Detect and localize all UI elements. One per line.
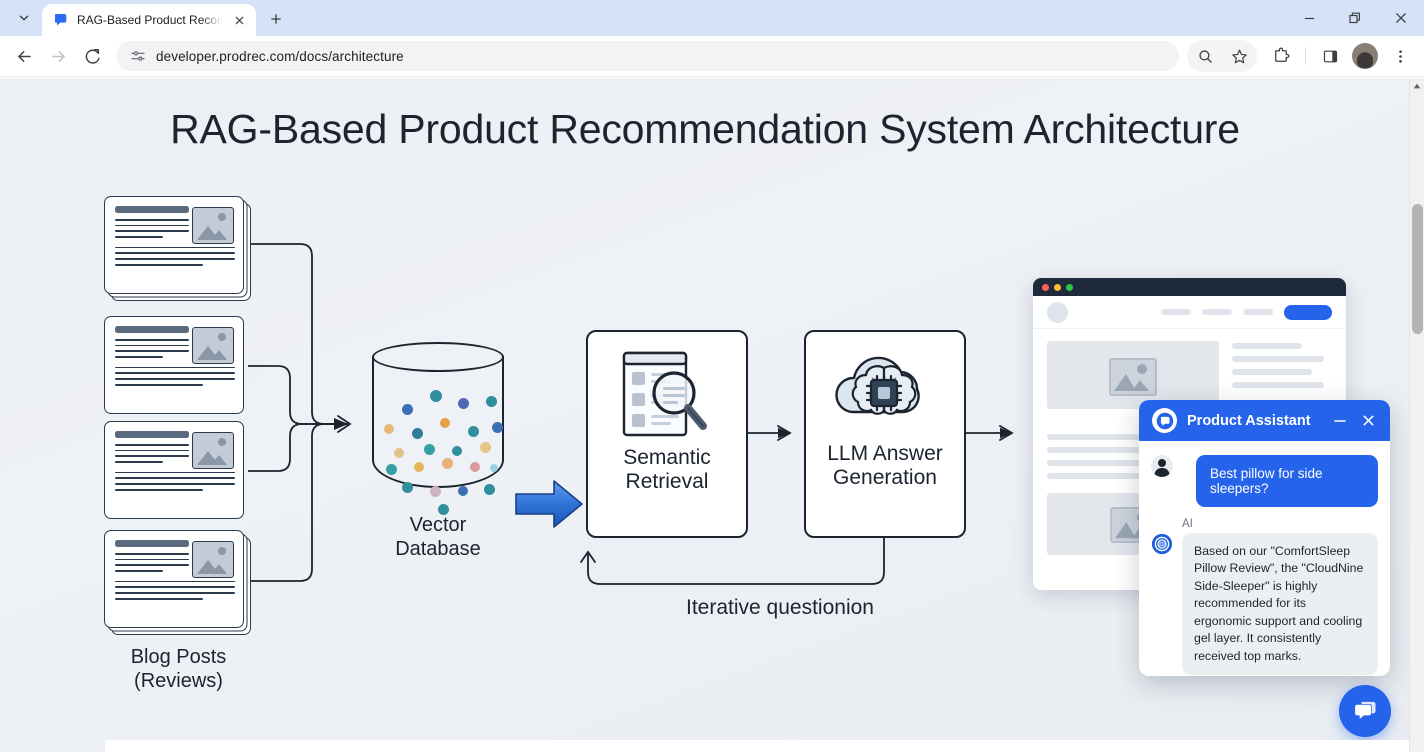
close-icon [1362, 414, 1375, 427]
cylinder-top-ellipse [372, 342, 504, 372]
tab-strip: RAG-Based Product Recommen [0, 0, 1424, 36]
chat-message-user: Best pillow for side sleepers? [1151, 455, 1378, 507]
vector-dot [492, 422, 503, 433]
vector-dot [402, 404, 413, 415]
window-restore-button[interactable] [1332, 0, 1378, 36]
product-assistant-logo [1152, 408, 1177, 433]
vector-dot [384, 424, 394, 434]
traffic-light-green [1066, 284, 1073, 291]
site-settings-icon [130, 48, 146, 64]
vector-dot [468, 426, 479, 437]
step-label: Semantic Retrieval [623, 446, 711, 493]
back-button[interactable] [8, 40, 40, 72]
architecture-diagram: Blog Posts (Reviews) [0, 78, 1410, 752]
chat-close-button[interactable] [1359, 412, 1377, 430]
vector-dot [394, 448, 404, 458]
omnibox-actions-pill [1187, 40, 1257, 72]
ai-avatar-icon [1151, 533, 1173, 555]
doc-image-placeholder [192, 432, 234, 469]
browser-tab[interactable]: RAG-Based Product Recommen [42, 4, 256, 36]
source-document-3[interactable] [104, 421, 249, 523]
chat-message-ai: Based on our "ComfortSleep Pillow Review… [1151, 533, 1378, 675]
doc-title-bar [115, 540, 189, 547]
mockup-navbar [1033, 296, 1346, 329]
scrollbar-thumb[interactable] [1412, 204, 1423, 334]
mockup-titlebar [1033, 278, 1346, 296]
source-document-2[interactable] [104, 316, 249, 418]
vector-dot [458, 398, 469, 409]
chat-bubble-logo-icon [1156, 412, 1174, 430]
side-panel-icon [1322, 48, 1339, 65]
chat-bubble-favicon [53, 12, 69, 28]
step-label: LLM Answer Generation [827, 442, 943, 489]
cloud-brain-chip-icon [827, 346, 943, 438]
tab-title: RAG-Based Product Recommen [77, 13, 222, 27]
chat-launcher-button[interactable] [1339, 685, 1391, 737]
browser-toolbar: developer.prodrec.com/docs/architecture [0, 36, 1424, 77]
forward-button[interactable] [42, 40, 74, 72]
minimize-icon [1304, 13, 1315, 24]
vector-dot [402, 482, 413, 493]
restore-icon [1349, 12, 1361, 24]
database-caption: Vector Database [358, 514, 518, 561]
new-tab-button[interactable] [262, 5, 290, 33]
search-icon [1197, 48, 1214, 65]
doc-title-bar [115, 431, 189, 438]
doc-title-bar [115, 206, 189, 213]
doc-image-placeholder [192, 541, 234, 578]
vector-dot [470, 462, 480, 472]
vector-dot [486, 396, 497, 407]
vector-dot [452, 446, 462, 456]
vector-dot [430, 486, 441, 497]
plus-icon [269, 12, 283, 26]
source-document-stack-4[interactable] [104, 530, 260, 644]
page-bottom-panel [105, 740, 1410, 752]
close-icon [234, 15, 245, 26]
source-document-stack-1[interactable] [104, 196, 260, 310]
traffic-light-red [1042, 284, 1049, 291]
star-icon [1231, 48, 1248, 65]
vector-dot [442, 458, 453, 469]
reload-button[interactable] [76, 40, 108, 72]
window-close-button[interactable] [1378, 0, 1424, 36]
page-viewport: RAG-Based Product Recommendation System … [0, 78, 1424, 752]
reload-icon [83, 47, 101, 65]
step-semantic-retrieval[interactable]: Semantic Retrieval [586, 330, 748, 538]
puzzle-icon [1272, 47, 1290, 65]
ai-badge-icon [1151, 533, 1173, 555]
forward-arrow-icon [49, 47, 68, 66]
doc-sheet-front [104, 421, 244, 519]
doc-image-placeholder [192, 207, 234, 244]
extensions-button[interactable] [1265, 40, 1297, 72]
mockup-nav-links [1161, 305, 1332, 320]
toolbar-actions [1187, 40, 1416, 72]
ai-message-bubble: Based on our "ComfortSleep Pillow Review… [1182, 533, 1378, 675]
bookmark-button[interactable] [1223, 40, 1255, 72]
window-minimize-button[interactable] [1286, 0, 1332, 36]
side-panel-button[interactable] [1314, 40, 1346, 72]
minimize-icon [1333, 414, 1347, 428]
chat-bubbles-icon [1352, 698, 1379, 725]
doc-sheet-front [104, 316, 244, 414]
ai-sender-label: AI [1182, 518, 1378, 530]
vector-dot [440, 418, 450, 428]
chat-message-list: Best pillow for side sleepers? AI [1139, 441, 1390, 676]
product-assistant-chat-widget: Product Assistant Best pillow for side s… [1139, 400, 1390, 676]
vector-dot [424, 444, 435, 455]
image-placeholder-icon [1109, 358, 1157, 396]
profile-avatar[interactable] [1352, 43, 1378, 69]
doc-title-bar [115, 326, 189, 333]
back-arrow-icon [15, 47, 34, 66]
close-icon [1395, 12, 1407, 24]
vector-dot [386, 464, 397, 475]
vector-dot [484, 484, 495, 495]
traffic-light-yellow [1054, 284, 1061, 291]
mockup-nav-link[interactable] [1161, 309, 1191, 315]
chevron-down-icon [17, 11, 31, 25]
mockup-nav-link[interactable] [1243, 309, 1273, 315]
more-vertical-icon [1392, 48, 1409, 65]
document-magnifier-icon [619, 350, 715, 442]
toolbar-divider [1305, 47, 1306, 65]
mockup-hero-image [1047, 341, 1219, 409]
tab-close-button[interactable] [230, 11, 248, 29]
address-bar-url: developer.prodrec.com/docs/architecture [156, 49, 404, 64]
vector-dot [490, 464, 498, 472]
chat-header: Product Assistant [1139, 400, 1390, 441]
scroll-up-button[interactable] [1410, 78, 1424, 94]
mockup-cta-button[interactable] [1284, 305, 1332, 320]
window-controls [1286, 0, 1424, 36]
mockup-nav-link[interactable] [1202, 309, 1232, 315]
zoom-search-button[interactable] [1189, 40, 1221, 72]
browser-window: RAG-Based Product Recommen [0, 0, 1424, 752]
address-bar[interactable]: developer.prodrec.com/docs/architecture [116, 41, 1179, 71]
vector-dot [430, 390, 442, 402]
step-llm-answer-generation[interactable]: LLM Answer Generation [804, 330, 966, 538]
chat-minimize-button[interactable] [1331, 412, 1349, 430]
sources-caption: Blog Posts (Reviews) [96, 646, 261, 693]
vector-dot [480, 442, 491, 453]
doc-sheet-front [104, 530, 244, 628]
vertical-scrollbar[interactable] [1409, 78, 1424, 752]
doc-image-placeholder [192, 327, 234, 364]
mockup-logo [1047, 302, 1068, 323]
tab-search-button[interactable] [6, 3, 42, 33]
blue-flow-arrow [514, 478, 584, 530]
user-message-bubble: Best pillow for side sleepers? [1196, 455, 1378, 507]
vector-dot [412, 428, 423, 439]
feedback-loop-label: Iterative questionion [600, 596, 960, 621]
doc-sheet-front [104, 196, 244, 294]
chrome-menu-button[interactable] [1384, 40, 1416, 72]
chat-header-title: Product Assistant [1187, 413, 1321, 429]
vector-database[interactable] [372, 340, 504, 492]
user-avatar-icon [1151, 455, 1173, 477]
vector-dot [458, 486, 468, 496]
vector-dot [414, 462, 424, 472]
chevron-up-icon [1413, 82, 1421, 90]
